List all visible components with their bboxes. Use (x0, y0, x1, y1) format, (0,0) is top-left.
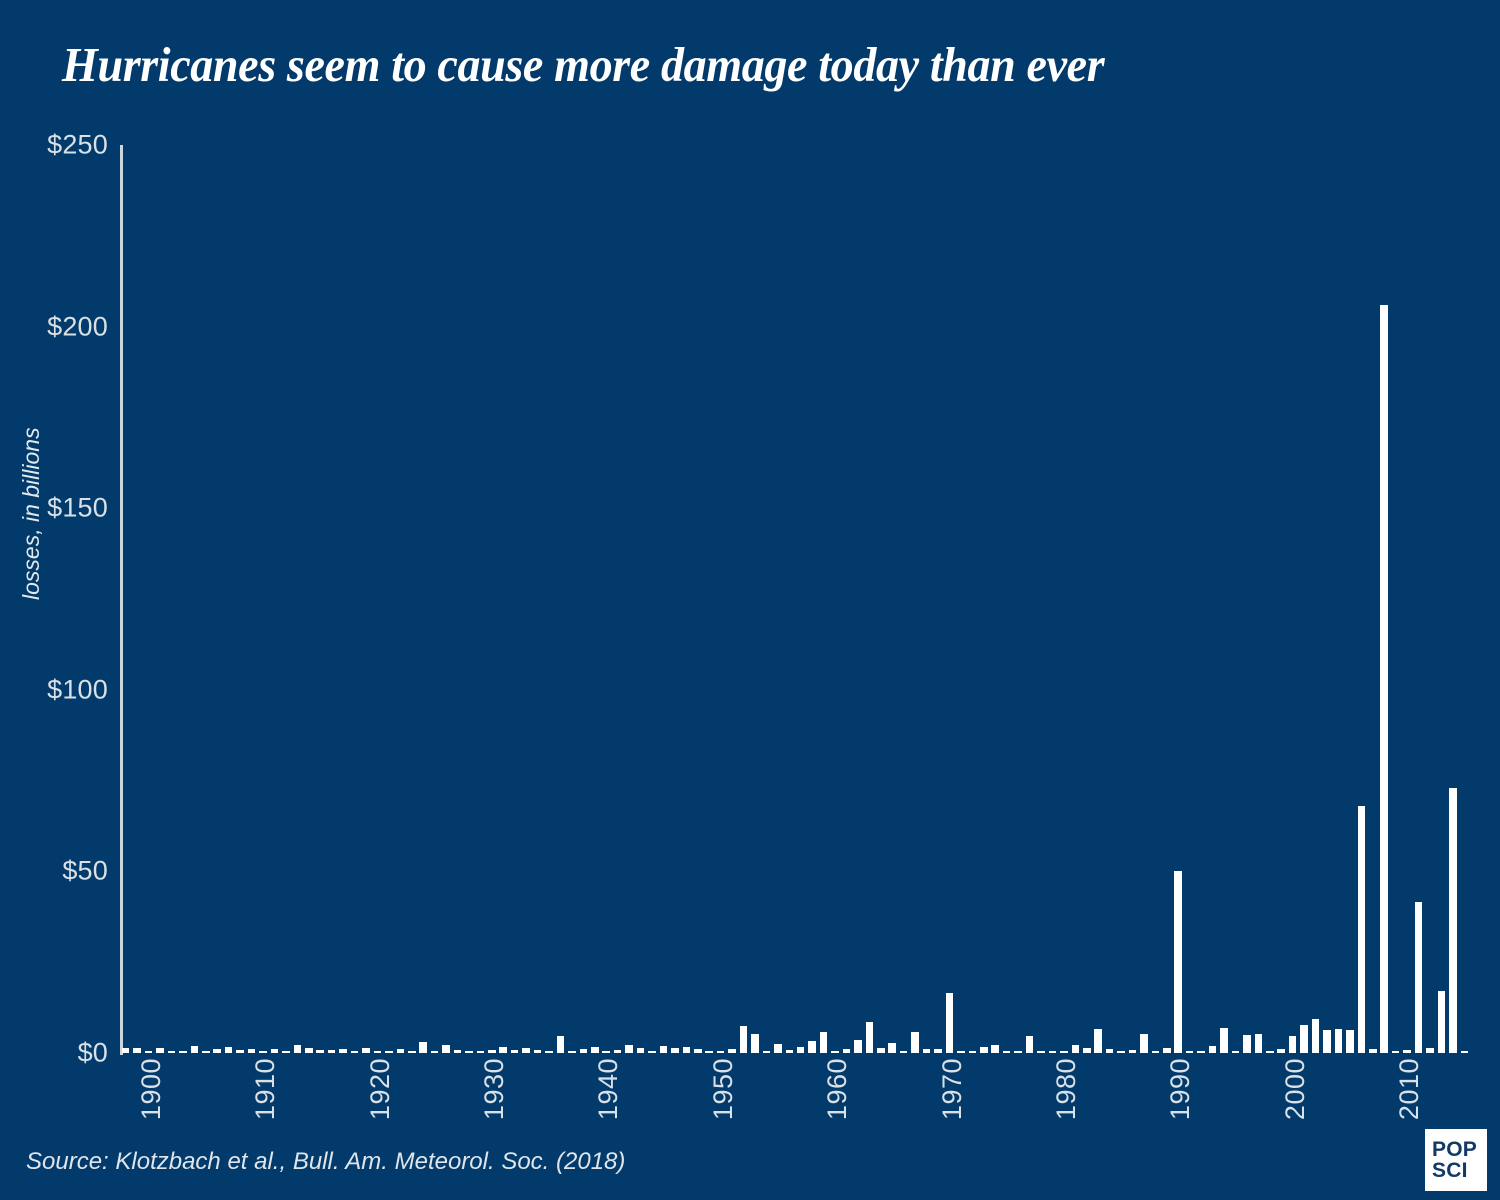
y-tick-label: $250 (0, 130, 108, 161)
bar (602, 1051, 610, 1053)
bar (191, 1046, 199, 1053)
bar (385, 1051, 393, 1053)
bar (1403, 1050, 1411, 1053)
bar (236, 1050, 244, 1053)
bar (1232, 1051, 1240, 1053)
bar (740, 1026, 748, 1053)
bar (1186, 1051, 1194, 1053)
source-note: Source: Klotzbach et al., Bull. Am. Mete… (26, 1148, 625, 1176)
bar (683, 1047, 691, 1053)
bar (1072, 1045, 1080, 1053)
bar (168, 1051, 176, 1053)
bar (351, 1051, 359, 1053)
bar (946, 993, 954, 1053)
bar (1392, 1051, 1400, 1053)
x-tick-label: 1970 (937, 1058, 968, 1120)
bar (980, 1047, 988, 1053)
bar (534, 1050, 542, 1053)
bar (179, 1051, 187, 1053)
bar (442, 1045, 450, 1053)
bar (213, 1049, 221, 1053)
bar (397, 1049, 405, 1053)
bar (465, 1051, 473, 1053)
bar (957, 1051, 965, 1053)
bar (477, 1051, 485, 1053)
bar (294, 1045, 302, 1053)
bar (156, 1048, 164, 1053)
bar (1106, 1049, 1114, 1053)
bar (637, 1048, 645, 1053)
bar (1083, 1048, 1091, 1053)
x-tick-label: 2000 (1280, 1058, 1311, 1120)
bar (568, 1051, 576, 1053)
x-tick-label: 1910 (250, 1058, 281, 1120)
y-tick-label: $200 (0, 311, 108, 342)
bar (808, 1041, 816, 1053)
plot-area (120, 145, 1470, 1053)
bar (1026, 1036, 1034, 1053)
bar (614, 1050, 622, 1053)
bar (511, 1050, 519, 1053)
bar (1197, 1051, 1205, 1053)
bar (1003, 1051, 1011, 1053)
bar (1277, 1049, 1285, 1053)
bar (1323, 1030, 1331, 1053)
bar (1266, 1051, 1274, 1053)
bar (843, 1049, 851, 1053)
bar (900, 1051, 908, 1053)
x-tick-label: 1900 (136, 1058, 167, 1120)
bar (282, 1051, 290, 1053)
bar (1289, 1036, 1297, 1053)
bar (316, 1050, 324, 1053)
bar (145, 1051, 153, 1053)
bar (923, 1049, 931, 1053)
logo-line-pop: POP (1432, 1139, 1477, 1160)
bar (877, 1048, 885, 1053)
x-tick-label: 1950 (708, 1058, 739, 1120)
bar (751, 1034, 759, 1053)
bar (797, 1047, 805, 1053)
bar (625, 1045, 633, 1053)
bar (728, 1049, 736, 1053)
bar (1461, 1051, 1469, 1053)
bar (1426, 1048, 1434, 1053)
bar (1380, 305, 1388, 1053)
bar (671, 1048, 679, 1053)
bar (991, 1045, 999, 1053)
bar (202, 1051, 210, 1053)
bar (1117, 1051, 1125, 1053)
bar (499, 1047, 507, 1053)
x-tick-label: 1920 (365, 1058, 396, 1120)
y-tick-label: $50 (0, 856, 108, 887)
bar (259, 1051, 267, 1053)
logo-line-sci: SCI (1432, 1160, 1468, 1181)
bar (1174, 871, 1182, 1053)
bar (774, 1044, 782, 1053)
bar (648, 1051, 656, 1053)
bar (1049, 1051, 1057, 1053)
y-tick-label: $150 (0, 493, 108, 524)
bar (305, 1048, 313, 1053)
bar (591, 1047, 599, 1053)
x-tick-label: 1930 (479, 1058, 510, 1120)
bar (522, 1048, 530, 1053)
bar (248, 1049, 256, 1053)
bar (1014, 1051, 1022, 1053)
bar (1335, 1029, 1343, 1053)
bar (911, 1032, 919, 1053)
bar (1346, 1030, 1354, 1053)
bar (1415, 902, 1423, 1053)
bar (122, 1048, 130, 1053)
bar (328, 1050, 336, 1053)
chart-page: Hurricanes seem to cause more damage tod… (0, 0, 1500, 1200)
bar (763, 1051, 771, 1053)
bar (1255, 1034, 1263, 1053)
bar (660, 1046, 668, 1053)
bar (820, 1032, 828, 1053)
bar (1358, 806, 1366, 1053)
bar (694, 1049, 702, 1053)
bar (557, 1036, 565, 1053)
bar (1129, 1050, 1137, 1053)
bar (1449, 788, 1457, 1053)
bar (786, 1050, 794, 1053)
bar (1037, 1051, 1045, 1053)
bar (969, 1051, 977, 1053)
bar (717, 1051, 725, 1053)
bar (1060, 1051, 1068, 1053)
bar (888, 1043, 896, 1053)
bar (1140, 1034, 1148, 1053)
y-tick-label: $100 (0, 674, 108, 705)
bar (866, 1022, 874, 1053)
bar (419, 1042, 427, 1053)
bar (454, 1050, 462, 1053)
bar (408, 1051, 416, 1053)
bar (1243, 1035, 1251, 1053)
bar (1152, 1051, 1160, 1053)
bar (1369, 1049, 1377, 1053)
bar (271, 1049, 279, 1053)
x-tick-label: 2010 (1394, 1058, 1425, 1120)
x-tick-label: 1980 (1051, 1058, 1082, 1120)
bar (1163, 1048, 1171, 1053)
bar (133, 1048, 141, 1053)
bar (1094, 1029, 1102, 1053)
x-tick-label: 1940 (593, 1058, 624, 1120)
x-tick-label: 1990 (1165, 1058, 1196, 1120)
bar (705, 1051, 713, 1053)
bar (1300, 1025, 1308, 1053)
x-axis-tick-labels: 1900191019201930194019501960197019801990… (120, 1058, 1470, 1148)
y-tick-label: $0 (0, 1038, 108, 1069)
bar (488, 1050, 496, 1053)
bar (225, 1047, 233, 1053)
bar (431, 1051, 439, 1053)
bar (1312, 1019, 1320, 1053)
page-title: Hurricanes seem to cause more damage tod… (62, 36, 1378, 93)
popsci-logo: POP SCI (1425, 1129, 1487, 1191)
bar (362, 1048, 370, 1053)
bar (580, 1049, 588, 1053)
x-tick-label: 1960 (822, 1058, 853, 1120)
bar (1438, 991, 1446, 1053)
bar (339, 1049, 347, 1053)
bar (831, 1051, 839, 1053)
bar (934, 1049, 942, 1053)
bar (374, 1051, 382, 1053)
bar (1209, 1046, 1217, 1053)
bar (545, 1051, 553, 1053)
bars-layer (120, 145, 1470, 1053)
bar (854, 1040, 862, 1053)
bar (1220, 1028, 1228, 1053)
